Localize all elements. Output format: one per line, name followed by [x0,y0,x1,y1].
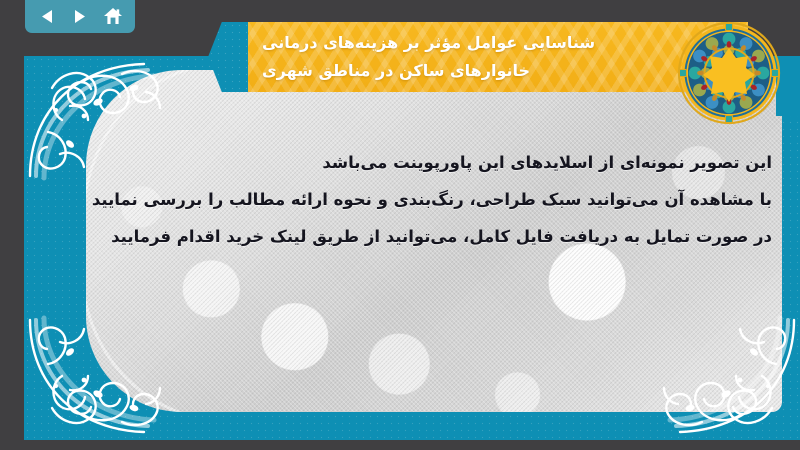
previous-arrow-icon [39,8,56,25]
slide-navigation-bar [25,0,135,33]
body-line-1: این تصویر نمونه‌ای از اسلایدهای این پاور… [86,144,772,181]
title-line-2: خانوارهای ساکن در مناطق شهری [262,57,530,85]
home-icon [103,7,123,26]
next-arrow-icon [71,8,88,25]
body-line-2: با مشاهده آن می‌توانید سبک طراحی، رنگ‌بن… [86,181,772,218]
persian-mandala-ornament [676,20,782,126]
previous-slide-button[interactable] [34,5,60,29]
title-line-1: شناسایی عوامل مؤثر بر هزینه‌های درمانی [262,29,595,57]
slide-viewer: این تصویر نمونه‌ای از اسلایدهای این پاور… [0,0,800,450]
next-slide-button[interactable] [67,5,93,29]
slide-body-text: این تصویر نمونه‌ای از اسلایدهای این پاور… [86,144,772,255]
slide-title-banner: شناسایی عوامل مؤثر بر هزینه‌های درمانی خ… [248,22,748,92]
home-button[interactable] [100,5,126,29]
body-line-3: در صورت تمایل به دریافت فایل کامل، می‌تو… [86,218,772,255]
